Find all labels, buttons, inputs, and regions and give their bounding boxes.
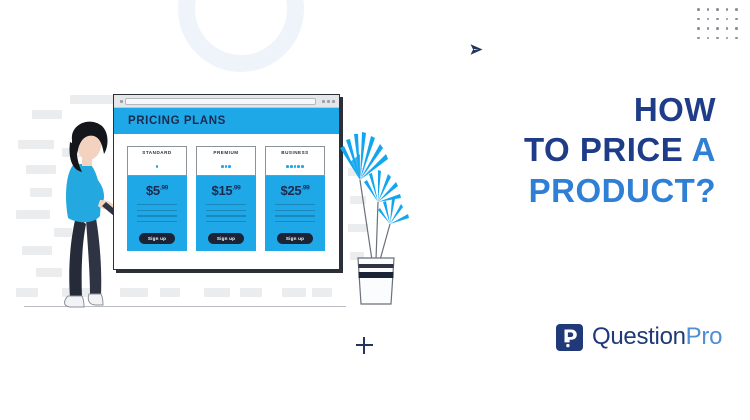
brick-block (312, 288, 332, 297)
plan-rating-stars (155, 155, 159, 172)
signup-button[interactable]: Sign up (208, 233, 244, 244)
url-input[interactable] (125, 98, 316, 105)
pricing-card-premium[interactable]: PREMIUM $15.99 Sign up (196, 146, 256, 251)
pricing-article-banner: PRICING PLANS STANDARD $5.99 Sign up (0, 0, 750, 420)
plan-rating-stars (286, 155, 305, 172)
person-illustration (56, 120, 120, 310)
chrome-control-dot (332, 100, 335, 103)
questionpro-logo[interactable]: QuestionPro (556, 320, 722, 354)
page-title: HOW TO PRICE A PRODUCT? (346, 90, 716, 211)
brick-block (26, 165, 56, 174)
logo-text-question: Question (592, 323, 686, 350)
card-header: STANDARD (127, 146, 187, 176)
plan-price: $15.99 (212, 183, 241, 198)
pricing-page-title: PRICING PLANS (128, 115, 226, 127)
paper-plane-icon (469, 42, 484, 57)
brick-block (22, 246, 52, 255)
pricing-page-mockup: PRICING PLANS STANDARD $5.99 Sign up (113, 94, 340, 270)
brick-block (120, 288, 148, 297)
brick-block (70, 95, 114, 104)
logo-text-pro: Pro (686, 323, 722, 350)
pricing-header-bar: PRICING PLANS (114, 108, 339, 134)
chrome-control-dot (120, 100, 123, 103)
plan-feature-lines (137, 204, 177, 227)
brick-block (16, 210, 50, 219)
browser-chrome-bar (114, 95, 339, 108)
pricing-card-list: STANDARD $5.99 Sign up PREMIUM (114, 134, 339, 251)
dot-grid-decoration (697, 8, 745, 46)
brick-block (18, 140, 54, 149)
plan-price: $25.99 (281, 183, 310, 198)
brick-block (32, 110, 62, 119)
plan-price: $5.99 (146, 183, 168, 198)
plan-rating-stars (220, 155, 231, 172)
chrome-control-dot (322, 100, 325, 103)
signup-button[interactable]: Sign up (277, 233, 313, 244)
card-header: BUSINESS (265, 146, 325, 176)
plan-feature-lines (206, 204, 246, 227)
headline-line-1: HOW (346, 90, 716, 130)
questionpro-wordmark: QuestionPro (592, 323, 722, 351)
brick-block (282, 288, 306, 297)
brick-block (240, 288, 262, 297)
brick-block (204, 288, 230, 297)
questionpro-mark-icon (556, 324, 583, 351)
card-header: PREMIUM (196, 146, 256, 176)
brick-block (30, 188, 52, 197)
brick-block (160, 288, 180, 297)
plan-feature-lines (275, 204, 315, 227)
chrome-control-dot (327, 100, 330, 103)
pricing-card-business[interactable]: BUSINESS $25.99 Sign up (265, 146, 325, 251)
brick-block (16, 288, 38, 297)
pricing-card-standard[interactable]: STANDARD $5.99 Sign up (127, 146, 187, 251)
headline-line-3: PRODUCT? (346, 171, 716, 211)
headline-line-2: TO PRICE A (346, 130, 716, 170)
signup-button[interactable]: Sign up (139, 233, 175, 244)
